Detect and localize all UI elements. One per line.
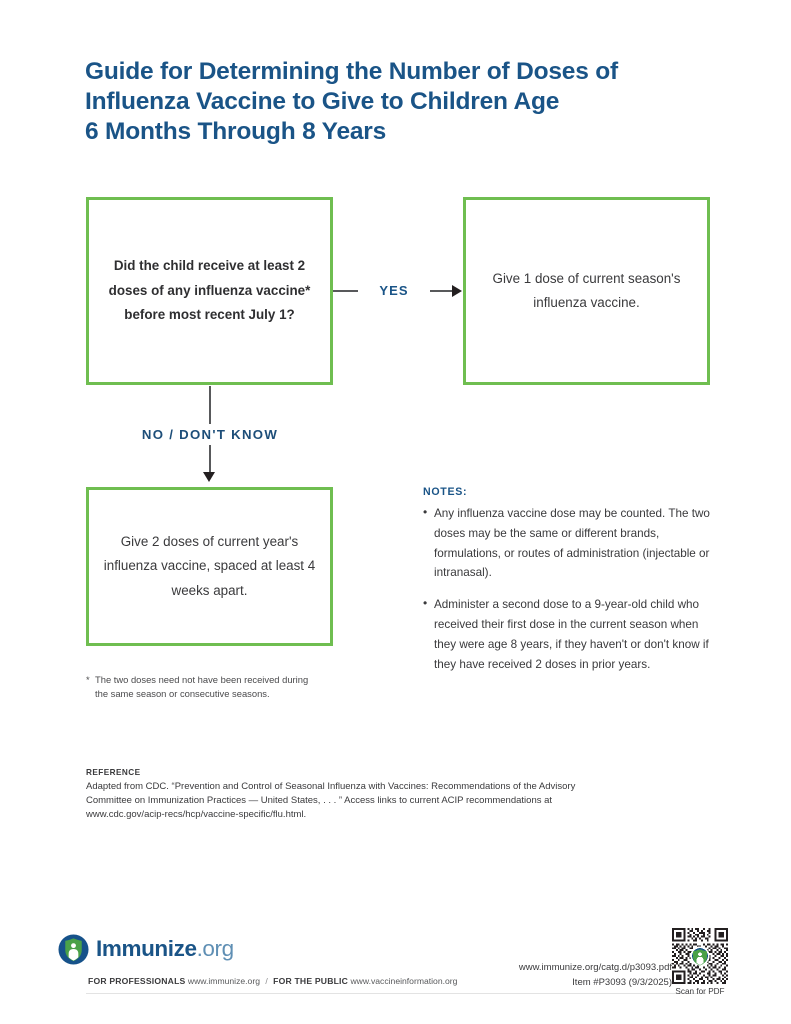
footer-divider (86, 993, 706, 994)
for-the-public-label: FOR THE PUBLIC (273, 976, 348, 986)
qr-code-icon (672, 928, 728, 984)
notes-section: NOTES: • Any influenza vaccine dose may … (423, 486, 715, 686)
flowchart-question-box: Did the child receive at least 2 doses o… (86, 197, 333, 385)
reference-section: REFERENCE Adapted from CDC. “Prevention … (86, 768, 646, 823)
flowchart-question-text: Did the child receive at least 2 doses o… (103, 254, 315, 328)
no-branch-label: NO / DON'T KNOW (112, 424, 308, 445)
yes-arrowhead-icon (452, 285, 462, 297)
logo-name: Immunize (96, 936, 197, 961)
footnote-marker: * (86, 673, 95, 687)
footer-links: FOR PROFESSIONALS www.immunize.org / FOR… (88, 976, 457, 986)
reference-heading: REFERENCE (86, 768, 646, 777)
for-professionals-label: FOR PROFESSIONALS (88, 976, 185, 986)
immunize-shield-logo-icon (58, 934, 89, 965)
flowchart-no-outcome-box: Give 2 doses of current year's influenza… (86, 487, 333, 646)
qr-code-block[interactable]: Scan for PDF (672, 928, 728, 996)
page-title-line-1: Guide for Determining the Number of Dose… (85, 57, 705, 87)
reference-line-1: Adapted from CDC. “Prevention and Contro… (86, 780, 646, 794)
yes-branch-label: YES (358, 281, 430, 300)
immunize-logo[interactable]: Immunize.org (58, 934, 234, 965)
immunize-logo-text: Immunize.org (96, 938, 234, 961)
footnote-line-1: The two doses need not have been receive… (95, 674, 308, 685)
note-item-text: Administer a second dose to a 9-year-old… (434, 598, 709, 670)
pdf-url[interactable]: www.immunize.org/catg.d/p3093.pdf (519, 960, 672, 975)
for-professionals-url[interactable]: www.immunize.org (188, 976, 260, 986)
bullet-icon: • (423, 503, 427, 523)
flowchart-yes-outcome-box: Give 1 dose of current season's influenz… (463, 197, 710, 385)
note-item: • Any influenza vaccine dose may be coun… (423, 504, 715, 583)
logo-suffix: .org (197, 936, 234, 961)
page-title-line-3: 6 Months Through 8 Years (85, 117, 705, 147)
flowchart-yes-outcome-text: Give 1 dose of current season's influenz… (480, 267, 692, 316)
footnote-line-2: the same season or consecutive seasons. (86, 687, 346, 701)
page-title-line-2: Influenza Vaccine to Give to Children Ag… (85, 87, 705, 117)
bullet-icon: • (423, 594, 427, 614)
footer-document-info: www.immunize.org/catg.d/p3093.pdf Item #… (519, 960, 672, 990)
document-page: Guide for Determining the Number of Dose… (0, 0, 791, 1024)
reference-line-2: Committee on Immunization Practices — Un… (86, 794, 646, 808)
qr-caption: Scan for PDF (672, 987, 728, 996)
for-the-public-url[interactable]: www.vaccineinformation.org (350, 976, 457, 986)
flowchart-no-outcome-text: Give 2 doses of current year's influenza… (103, 530, 315, 604)
reference-body: Adapted from CDC. “Prevention and Contro… (86, 780, 646, 823)
footnote: *The two doses need not have been receiv… (86, 673, 346, 700)
note-item: • Administer a second dose to a 9-year-o… (423, 595, 715, 674)
page-title: Guide for Determining the Number of Dose… (85, 57, 705, 147)
no-arrowhead-icon (203, 472, 215, 482)
footer-link-separator: / (262, 976, 270, 986)
reference-line-3: www.cdc.gov/acip-recs/hcp/vaccine-specif… (86, 808, 646, 822)
note-item-text: Any influenza vaccine dose may be counte… (434, 507, 710, 579)
item-number: Item #P3093 (9/3/2025) (519, 975, 672, 990)
notes-heading: NOTES: (423, 486, 715, 498)
